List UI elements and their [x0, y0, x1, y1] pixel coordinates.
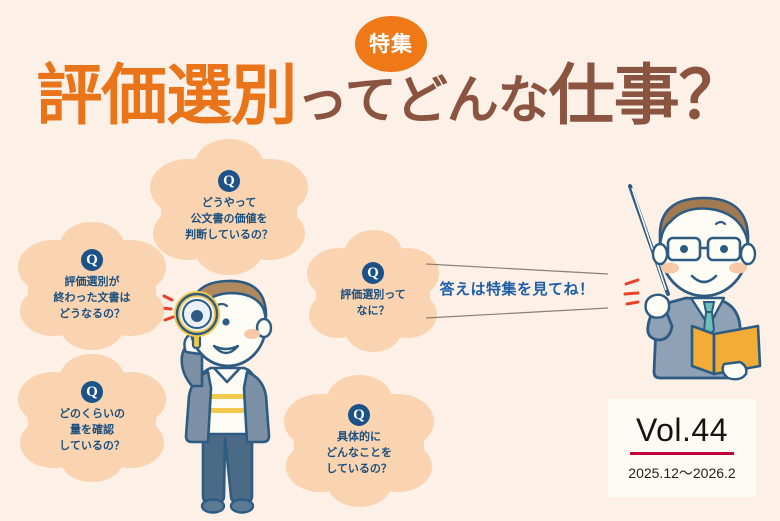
bubble-line: なに？ [357, 304, 390, 320]
ribbon-label: 答えは特集を見てね！ [424, 278, 610, 299]
question-icon: Q [348, 404, 370, 426]
bubble-line: しているの？ [59, 439, 125, 455]
title-connector: ってどんな [296, 72, 548, 130]
question-icon: Q [81, 381, 103, 403]
bubble-line: 評価選別って [340, 288, 405, 304]
bubble-line: 評価選別が [65, 275, 120, 291]
bubble-line: しているの？ [326, 462, 392, 478]
title-tail: 仕事？ [549, 58, 744, 132]
question-bubble-upper-left[interactable]: Q 評価選別が 終わった文書は どうなるの？ [28, 234, 156, 338]
volume-date-range: 2025.12〜2026.2 [628, 463, 735, 483]
bubble-line: 公文書の価値を [191, 212, 268, 228]
volume-number: Vol.44 [636, 414, 728, 446]
teacher-character [596, 176, 776, 393]
question-bubble-center[interactable]: Q 評価選別って なに？ [316, 242, 430, 340]
answer-ribbon: 答えは特集を見てね！ [424, 256, 610, 326]
question-icon: Q [362, 262, 384, 284]
volume-divider [630, 452, 734, 455]
poster-canvas: 特集 評価選別ってどんな仕事？ [0, 0, 780, 521]
question-bubble-lower-left[interactable]: Q どのくらいの 量を確認 しているの？ [28, 366, 156, 470]
bubble-line: どうやって [202, 196, 256, 212]
bubble-line: どのくらいの [59, 407, 125, 423]
bubble-line: 終わった文書は [54, 291, 131, 307]
bubble-line: 判断しているの？ [185, 228, 273, 244]
title-highlight: 評価選別 [36, 58, 296, 132]
question-bubble-bottom[interactable]: Q 具体的に どんなことを しているの？ [294, 388, 424, 494]
page-title: 評価選別ってどんな仕事？ [0, 62, 780, 128]
teacher-illustration [596, 176, 776, 388]
bubble-line: 具体的に [337, 430, 381, 446]
question-bubble-top[interactable]: Q どうやって 公文書の価値を 判断しているの？ [161, 152, 297, 262]
bubble-line: どうなるの？ [59, 307, 125, 323]
volume-box: Vol.44 2025.12〜2026.2 [608, 399, 756, 497]
student-character [156, 268, 316, 521]
bubble-line: どんなことを [326, 446, 392, 462]
question-icon: Q [81, 249, 103, 271]
question-icon: Q [218, 170, 240, 192]
bubble-line: 量を確認 [70, 423, 114, 439]
